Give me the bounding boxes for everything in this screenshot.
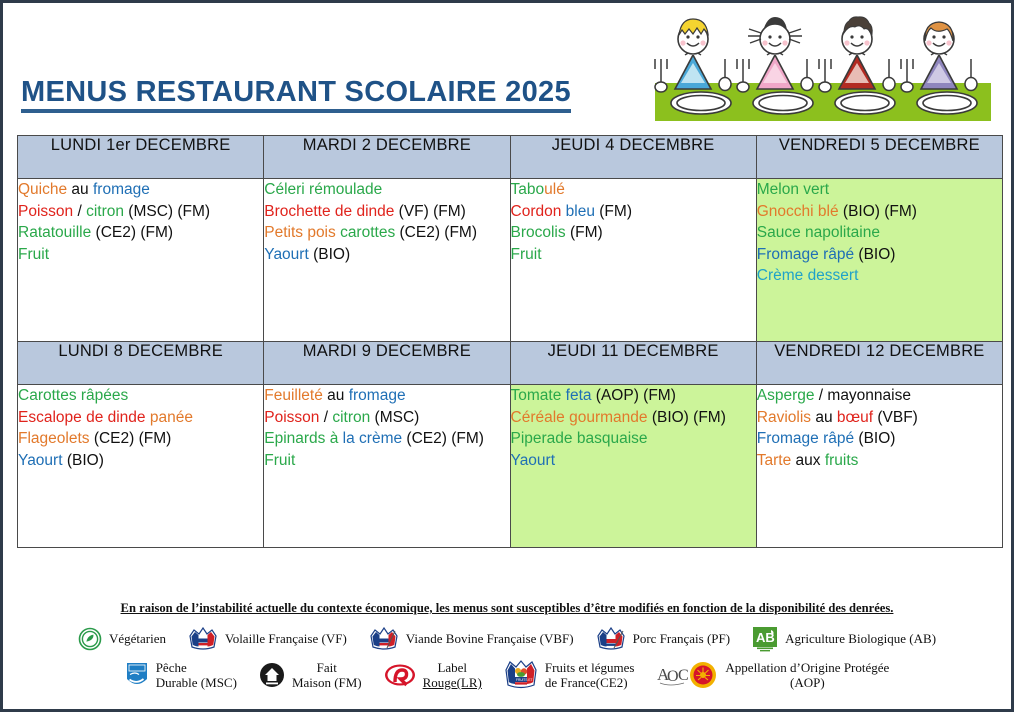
- poster-footer: En raison de l’instabilité actuelle du c…: [3, 595, 1011, 690]
- dish-line: Carottes râpées: [18, 385, 263, 407]
- poster-header: MENUS RESTAURANT SCOLAIRE 2025: [3, 3, 1011, 125]
- dish-segment: (BIO): [854, 246, 895, 263]
- dish-line: Escalope de dinde panée: [18, 407, 263, 429]
- day-header-cell: LUNDI 8 DECEMBRE: [18, 342, 264, 385]
- dish-segment: au: [67, 181, 93, 198]
- volaille-francaise-icon: [188, 627, 218, 651]
- dish-segment: fromage: [349, 387, 406, 404]
- dish-segment: (BIO): [309, 246, 350, 263]
- dish-segment: citron: [332, 409, 370, 426]
- day-header-cell: MARDI 2 DECEMBRE: [264, 136, 510, 179]
- legend-label: Végétarien: [109, 631, 166, 646]
- dish-line: Tarte aux fruits: [757, 450, 1002, 472]
- page-title: MENUS RESTAURANT SCOLAIRE 2025: [21, 77, 571, 113]
- dish-segment: Quiche: [18, 181, 67, 198]
- agriculture-biologique-icon: AB: [752, 626, 778, 652]
- dish-line: Petits pois carottes (CE2) (FM): [264, 222, 509, 244]
- dish-segment: Fruit: [511, 246, 542, 263]
- viande-bovine-francaise-icon: [369, 627, 399, 651]
- day-header-cell: LUNDI 1er DECEMBRE: [18, 136, 264, 179]
- porc-francais-icon: [596, 627, 626, 651]
- dish-segment: (BIO): [63, 452, 104, 469]
- legend-label: Appellation d’Origine Protégée(AOP): [725, 660, 889, 691]
- dish-segment: panée: [150, 409, 193, 426]
- dish-segment: Epinards à: [264, 430, 342, 447]
- dish-segment: (AOP) (FM): [592, 387, 676, 404]
- dish-segment: (MSC) (FM): [124, 203, 210, 220]
- aop-icon: A O C: [656, 661, 718, 689]
- dish-line: Epinards à la crème (CE2) (FM): [264, 428, 509, 450]
- dish-segment: (FM): [566, 224, 603, 241]
- dish-segment: Cordon: [511, 203, 566, 220]
- dish-line: Taboulé: [511, 179, 756, 201]
- dish-segment: Yaourt: [18, 452, 63, 469]
- dish-line: Tomate feta (AOP) (FM): [511, 385, 756, 407]
- dish-segment: au: [811, 409, 837, 426]
- dish-line: Poisson / citron (MSC) (FM): [18, 201, 263, 223]
- dish-segment: (MSC): [370, 409, 419, 426]
- dish-segment: / mayonnaise: [814, 387, 911, 404]
- dish-line: Fruit: [511, 244, 756, 266]
- dish-segment: Tarte: [757, 452, 791, 469]
- dish-segment: Feuilleté: [264, 387, 323, 404]
- dish-line: Yaourt (BIO): [264, 244, 509, 266]
- day-header-cell: MARDI 9 DECEMBRE: [264, 342, 510, 385]
- dish-segment: Fromage râpé: [757, 246, 854, 263]
- dish-segment: Fruit: [264, 452, 295, 469]
- dish-segment: (BIO): [854, 430, 895, 447]
- dish-segment: (CE2) (FM): [395, 224, 477, 241]
- dish-segment: (CE2) (FM): [90, 430, 172, 447]
- dish-segment: Fromage râpé: [757, 430, 854, 447]
- menu-cell: Céleri rémouladeBrochette de dinde (VF) …: [264, 179, 510, 342]
- dish-segment: Céleri rémoulade: [264, 181, 382, 198]
- legend-item-aop: A O C Appellation d’Origine Protégée(AOP…: [656, 660, 889, 691]
- dish-line: Yaourt (BIO): [18, 450, 263, 472]
- dish-segment: (CE2) (FM): [402, 430, 484, 447]
- dish-line: Flageolets (CE2) (FM): [18, 428, 263, 450]
- legend-label: Fruits et légumesde France(CE2): [545, 660, 635, 691]
- dish-segment: (BIO) (FM): [648, 409, 726, 426]
- dish-line: Céréale gourmande (BIO) (FM): [511, 407, 756, 429]
- legend-label: Agriculture Biologique (AB): [785, 631, 936, 646]
- dish-segment: Flageolets: [18, 430, 90, 447]
- dish-segment: Carottes râpées: [18, 387, 128, 404]
- legend-label: Volaille Française (VF): [225, 631, 347, 646]
- four-children-at-table-illustration: [651, 11, 995, 123]
- dish-segment: aux: [791, 452, 825, 469]
- legend-item-viande-bovine-francaise: Viande Bovine Française (VBF): [369, 627, 574, 651]
- day-header-cell: JEUDI 11 DECEMBRE: [510, 342, 756, 385]
- day-header-cell: JEUDI 4 DECEMBRE: [510, 136, 756, 179]
- menu-cell: Asperge / mayonnaiseRaviolis au bœuf (VB…: [756, 385, 1002, 548]
- legend-label: Viande Bovine Française (VBF): [406, 631, 574, 646]
- day-header-row: LUNDI 1er DECEMBREMARDI 2 DECEMBREJEUDI …: [18, 136, 1003, 179]
- dish-line: Quiche au fromage: [18, 179, 263, 201]
- dish-segment: Raviolis: [757, 409, 811, 426]
- dish-segment: (CE2) (FM): [91, 224, 173, 241]
- disclaimer-text: En raison de l’instabilité actuelle du c…: [3, 595, 1011, 619]
- peche-durable-msc-icon: [125, 662, 149, 689]
- day-header-cell: VENDREDI 12 DECEMBRE: [756, 342, 1002, 385]
- menu-cell: TabouléCordon bleu (FM)Brocolis (FM)Frui…: [510, 179, 756, 342]
- dish-segment: Yaourt: [511, 452, 556, 469]
- dish-segment: Piperade basquaise: [511, 430, 648, 447]
- dish-segment: la crème: [343, 430, 402, 447]
- dish-line: Céleri rémoulade: [264, 179, 509, 201]
- dish-segment: Melon vert: [757, 181, 829, 198]
- dish-segment: carottes: [340, 224, 395, 241]
- dish-line: Melon vert: [757, 179, 1002, 201]
- dish-line: Fruit: [18, 244, 263, 266]
- dish-line: Brocolis (FM): [511, 222, 756, 244]
- dish-segment: Tabo: [511, 181, 545, 198]
- menu-row: Carottes râpéesEscalope de dinde panéeFl…: [18, 385, 1003, 548]
- dish-segment: fruits: [825, 452, 859, 469]
- dish-segment: Yaourt: [264, 246, 309, 263]
- dish-line: Sauce napolitaine: [757, 222, 1002, 244]
- menu-cell: Melon vertGnocchi blé (BIO) (FM)Sauce na…: [756, 179, 1002, 342]
- dish-line: Ratatouille (CE2) (FM): [18, 222, 263, 244]
- legend-row-1: Végétarien Volaille Française (VF): [3, 626, 1011, 652]
- svg-text:O: O: [667, 668, 679, 685]
- menu-cell: Carottes râpéesEscalope de dinde panéeFl…: [18, 385, 264, 548]
- dish-segment: /: [319, 409, 332, 426]
- vegetarian-icon: [78, 627, 102, 651]
- dish-line: Yaourt: [511, 450, 756, 472]
- dish-segment: (VBF): [873, 409, 918, 426]
- dish-line: Asperge / mayonnaise: [757, 385, 1002, 407]
- dish-segment: Poisson: [18, 203, 73, 220]
- legend-label: FaitMaison (FM): [292, 660, 362, 691]
- menu-cell: Feuilleté au fromagePoisson / citron (MS…: [264, 385, 510, 548]
- day-header-row: LUNDI 8 DECEMBREMARDI 9 DECEMBREJEUDI 11…: [18, 342, 1003, 385]
- dish-segment: ulé: [544, 181, 565, 198]
- dish-line: Crème dessert: [757, 265, 1002, 287]
- dish-line: Fromage râpé (BIO): [757, 244, 1002, 266]
- dish-line: Fruit: [264, 450, 509, 472]
- dish-segment: Brochette de dinde: [264, 203, 394, 220]
- dish-segment: Petits pois: [264, 224, 340, 241]
- legend-item-peche-durable: PêcheDurable (MSC): [125, 660, 237, 691]
- dish-segment: (BIO) (FM): [839, 203, 917, 220]
- dish-line: Piperade basquaise: [511, 428, 756, 450]
- dish-segment: Fruit: [18, 246, 49, 263]
- legend-item-fruits-legumes-de-france: FRUITS ET Fruits et légumesde France(CE2…: [504, 660, 635, 691]
- dish-segment: Gnocchi blé: [757, 203, 839, 220]
- legend-item-vegetarien: Végétarien: [78, 627, 166, 651]
- dish-segment: Ratatouille: [18, 224, 91, 241]
- dish-line: Fromage râpé (BIO): [757, 428, 1002, 450]
- dish-segment: Poisson: [264, 409, 319, 426]
- menu-cell: Quiche au fromagePoisson / citron (MSC) …: [18, 179, 264, 342]
- dish-segment: Céréale gourmande: [511, 409, 648, 426]
- dish-segment: Asperge: [757, 387, 815, 404]
- dish-line: Cordon bleu (FM): [511, 201, 756, 223]
- dish-segment: Crème dessert: [757, 267, 859, 284]
- menu-row: Quiche au fromagePoisson / citron (MSC) …: [18, 179, 1003, 342]
- legend-label: LabelRouge(LR): [423, 660, 482, 691]
- weekly-menu-table: LUNDI 1er DECEMBREMARDI 2 DECEMBREJEUDI …: [17, 135, 1003, 548]
- dish-segment: Brocolis: [511, 224, 566, 241]
- dish-segment: au: [323, 387, 349, 404]
- dish-segment: feta: [566, 387, 592, 404]
- dish-segment: /: [73, 203, 86, 220]
- legend-label: Porc Français (PF): [633, 631, 731, 646]
- svg-text:FRUITS ET: FRUITS ET: [516, 678, 533, 682]
- legend-row-2: PêcheDurable (MSC) FaitMaison (FM) Label…: [3, 660, 1011, 691]
- dish-segment: Sauce napolitaine: [757, 224, 880, 241]
- day-header-cell: VENDREDI 5 DECEMBRE: [756, 136, 1002, 179]
- fruits-legumes-de-france-icon: FRUITS ET: [504, 660, 538, 690]
- legend-item-porc-francais: Porc Français (PF): [596, 627, 731, 651]
- dish-segment: citron: [86, 203, 124, 220]
- legend-item-label-rouge: LabelRouge(LR): [384, 660, 482, 691]
- menu-cell: Tomate feta (AOP) (FM)Céréale gourmande …: [510, 385, 756, 548]
- dish-line: Poisson / citron (MSC): [264, 407, 509, 429]
- dish-segment: (FM): [595, 203, 632, 220]
- dish-segment: bleu: [566, 203, 595, 220]
- legend-item-volaille-francaise: Volaille Française (VF): [188, 627, 347, 651]
- fait-maison-icon: [259, 662, 285, 688]
- dish-segment: Tomate: [511, 387, 566, 404]
- legend-item-agriculture-biologique: AB Agriculture Biologique (AB): [752, 626, 936, 652]
- legend-label: PêcheDurable (MSC): [156, 660, 237, 691]
- dish-line: Raviolis au bœuf (VBF): [757, 407, 1002, 429]
- label-rouge-icon: [384, 663, 416, 687]
- dish-segment: Escalope de dinde: [18, 409, 150, 426]
- legend-item-fait-maison: FaitMaison (FM): [259, 660, 362, 691]
- dish-segment: (VF) (FM): [394, 203, 465, 220]
- dish-line: Brochette de dinde (VF) (FM): [264, 201, 509, 223]
- dish-segment: fromage: [93, 181, 150, 198]
- dish-segment: bœuf: [837, 409, 873, 426]
- dish-line: Feuilleté au fromage: [264, 385, 509, 407]
- svg-text:C: C: [678, 667, 689, 684]
- dish-line: Gnocchi blé (BIO) (FM): [757, 201, 1002, 223]
- menu-poster: MENUS RESTAURANT SCOLAIRE 2025: [0, 0, 1014, 712]
